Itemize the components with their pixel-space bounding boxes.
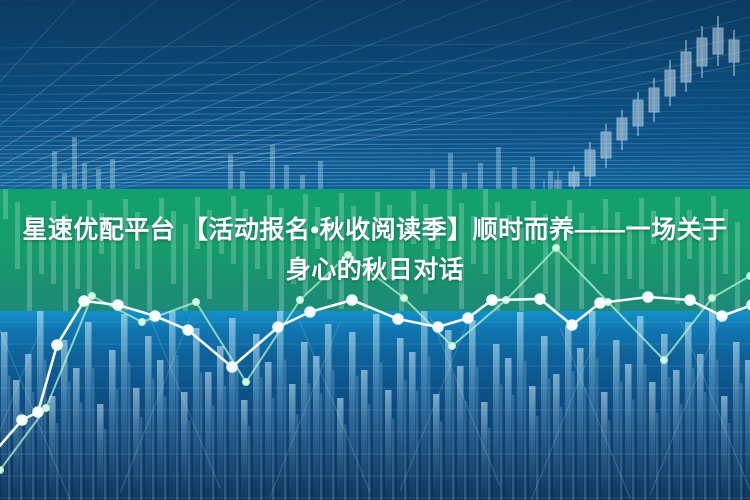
page-title: 星速优配平台 【活动报名•秋收阅读季】顺时而养——一场关于身心的秋日对话	[12, 210, 738, 290]
promo-banner-image: 星速优配平台 【活动报名•秋收阅读季】顺时而养——一场关于身心的秋日对话	[0, 0, 750, 500]
headline-container: 星速优配平台 【活动报名•秋收阅读季】顺时而养——一场关于身心的秋日对话	[0, 189, 750, 311]
